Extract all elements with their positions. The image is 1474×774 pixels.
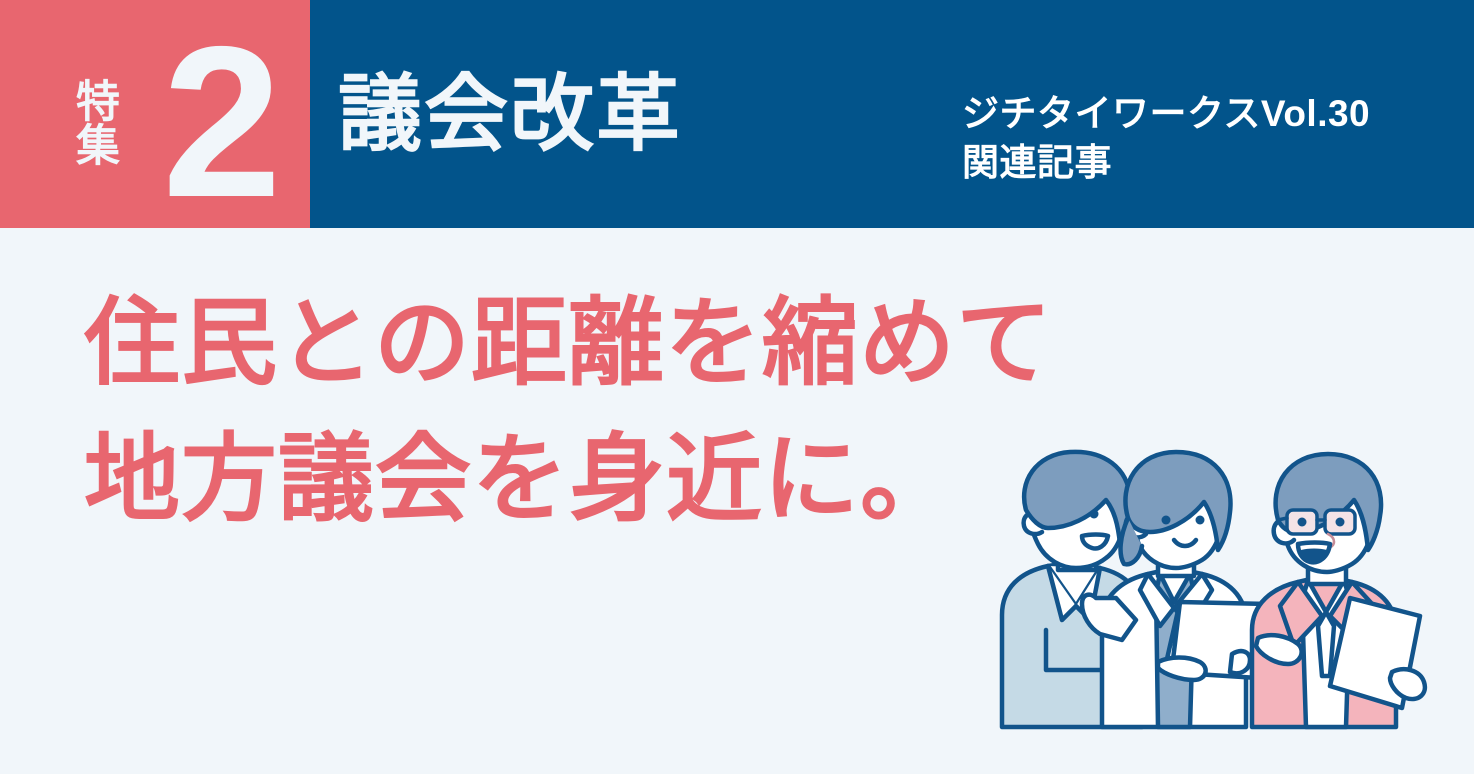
page-headline: 住民との距離を縮めて 地方議会を身近に。 <box>84 276 1053 549</box>
people-illustration-svg <box>950 440 1450 740</box>
feature-badge: 特集 2 <box>0 0 310 228</box>
header-bar: 特集 2 議会改革 ジチタイワークスVol.30 関連記事 <box>0 0 1474 228</box>
header-meta: ジチタイワークスVol.30 関連記事 <box>962 90 1370 188</box>
feature-number: 2 <box>140 8 300 236</box>
people-illustration <box>950 440 1450 740</box>
article-banner: 特集 2 議会改革 ジチタイワークスVol.30 関連記事 住民との距離を縮めて… <box>0 0 1474 774</box>
feature-label: 特集 <box>62 78 118 190</box>
header-title: 議会改革 <box>338 72 682 156</box>
person-right <box>1252 454 1425 727</box>
